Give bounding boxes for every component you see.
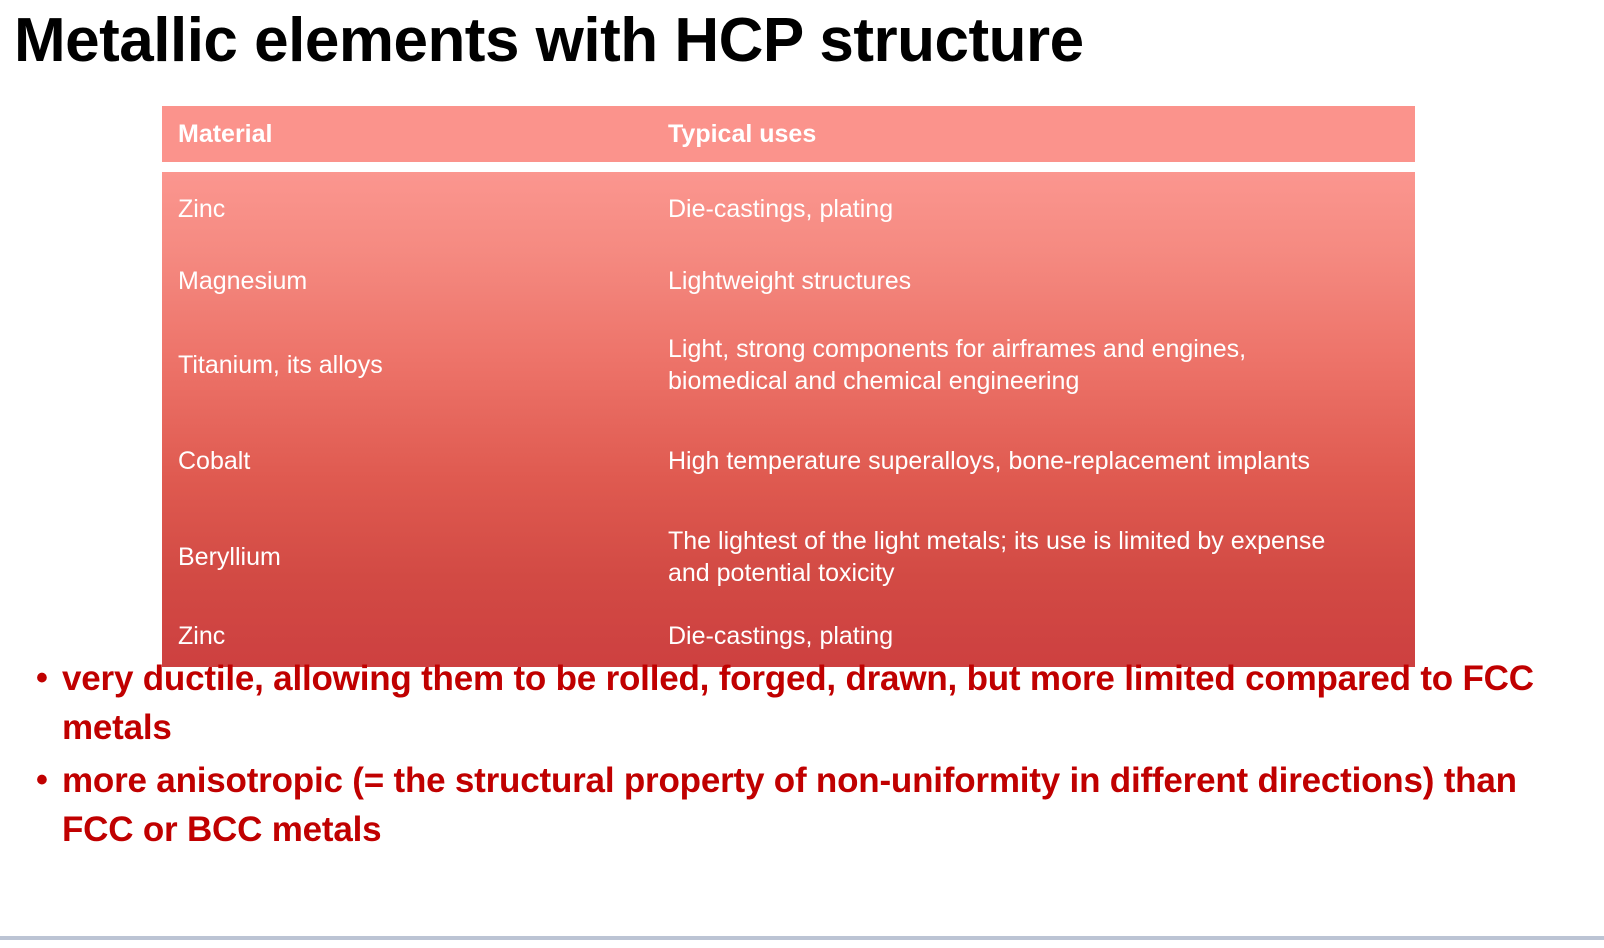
- cell-typical-uses: Light, strong components for airframes a…: [654, 317, 1415, 413]
- column-header-material: Material: [162, 106, 654, 162]
- bullet-dot-icon: •: [22, 756, 62, 805]
- slide: Metallic elements with HCP structure Mat…: [0, 0, 1604, 948]
- bullet-text: more anisotropic (= the structural prope…: [62, 756, 1592, 854]
- footer-divider: [0, 936, 1604, 940]
- table-row: Magnesium Lightweight structures: [162, 245, 1415, 317]
- table-row: Beryllium The lightest of the light meta…: [162, 509, 1415, 605]
- table-header-row: Material Typical uses: [162, 106, 1415, 162]
- cell-typical-uses: The lightest of the light metals; its us…: [654, 509, 1415, 605]
- list-item: • more anisotropic (= the structural pro…: [22, 756, 1592, 854]
- column-header-typical-uses: Typical uses: [654, 106, 1415, 162]
- bullet-dot-icon: •: [22, 654, 62, 703]
- table-row: Titanium, its alloys Light, strong compo…: [162, 317, 1415, 413]
- materials-table: Material Typical uses Zinc Die-castings,…: [162, 106, 1415, 667]
- table-header-divider: [162, 162, 1415, 172]
- header-gap-spacer: [162, 162, 1415, 172]
- bullet-text: very ductile, allowing them to be rolled…: [62, 654, 1592, 752]
- table-head: Material Typical uses: [162, 106, 1415, 162]
- bullet-list: • very ductile, allowing them to be roll…: [22, 654, 1592, 858]
- list-item: • very ductile, allowing them to be roll…: [22, 654, 1592, 752]
- cell-typical-uses: High temperature superalloys, bone-repla…: [654, 413, 1415, 509]
- cell-typical-uses: Lightweight structures: [654, 245, 1415, 317]
- table-row: Cobalt High temperature superalloys, bon…: [162, 413, 1415, 509]
- cell-material: Cobalt: [162, 413, 654, 509]
- table-body: Zinc Die-castings, plating Magnesium Lig…: [162, 172, 1415, 667]
- materials-table-container: Material Typical uses Zinc Die-castings,…: [162, 106, 1385, 667]
- cell-typical-uses: Die-castings, plating: [654, 172, 1415, 245]
- page-title: Metallic elements with HCP structure: [14, 8, 1574, 73]
- cell-material: Beryllium: [162, 509, 654, 605]
- cell-material: Zinc: [162, 172, 654, 245]
- table-row: Zinc Die-castings, plating: [162, 172, 1415, 245]
- cell-material: Titanium, its alloys: [162, 317, 654, 413]
- table-header-divider-row: [162, 162, 1415, 172]
- cell-material: Magnesium: [162, 245, 654, 317]
